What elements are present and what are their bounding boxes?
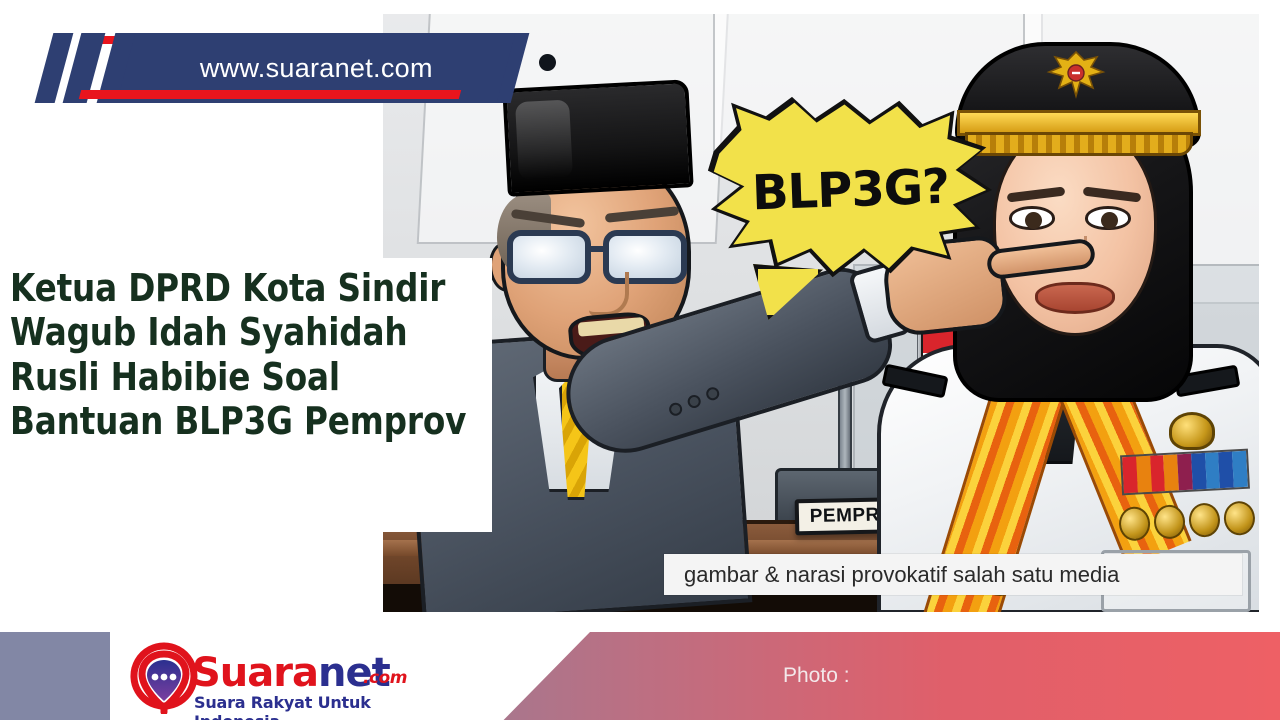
site-url-banner: www.suaranet.com (0, 0, 560, 120)
suaranet-logo[interactable]: Suaranet .com Suara Rakyat Untuk Indones… (128, 640, 428, 718)
photo-credit-label: Photo : (783, 632, 850, 720)
headline-line-1: Ketua DPRD Kota Sindir (10, 266, 412, 310)
website-url-label: www.suaranet.com (200, 53, 433, 84)
headline-line-3: Rusli Habibie Soal (10, 355, 412, 399)
speech-bubble-text: BLP3G? (751, 159, 950, 222)
headline-line-2: Wagub Idah Syahidah (10, 310, 412, 354)
woman-lips (1035, 282, 1115, 314)
logo-wordmark: Suaranet (192, 650, 390, 696)
footer-bar: Suaranet .com Suara Rakyat Untuk Indones… (0, 632, 1280, 720)
headline-line-4: Bantuan BLP3G Pemprov (10, 399, 412, 443)
garuda-emblem-icon (1045, 48, 1107, 100)
logo-suara-text: Suara (192, 650, 318, 696)
woman-crest-badge-icon (1169, 412, 1215, 450)
woman-ribbon-bar (1120, 449, 1250, 496)
logo-dotcom-text: .com (363, 668, 407, 688)
chat-pin-icon (128, 642, 200, 714)
woman-cap-braid (965, 132, 1193, 156)
footer-left-block (0, 632, 120, 720)
woman-medal-badges (1118, 500, 1256, 541)
image-caption: gambar & narasi provokatif salah satu me… (664, 554, 1242, 595)
woman-eye (1085, 206, 1131, 230)
headline-box: Ketua DPRD Kota Sindir Wagub Idah Syahid… (0, 258, 492, 532)
logo-tagline: Suara Rakyat Untuk Indonesia (194, 693, 428, 720)
woman-eye (1009, 206, 1055, 230)
banner-red-stripe-bottom (79, 90, 461, 99)
